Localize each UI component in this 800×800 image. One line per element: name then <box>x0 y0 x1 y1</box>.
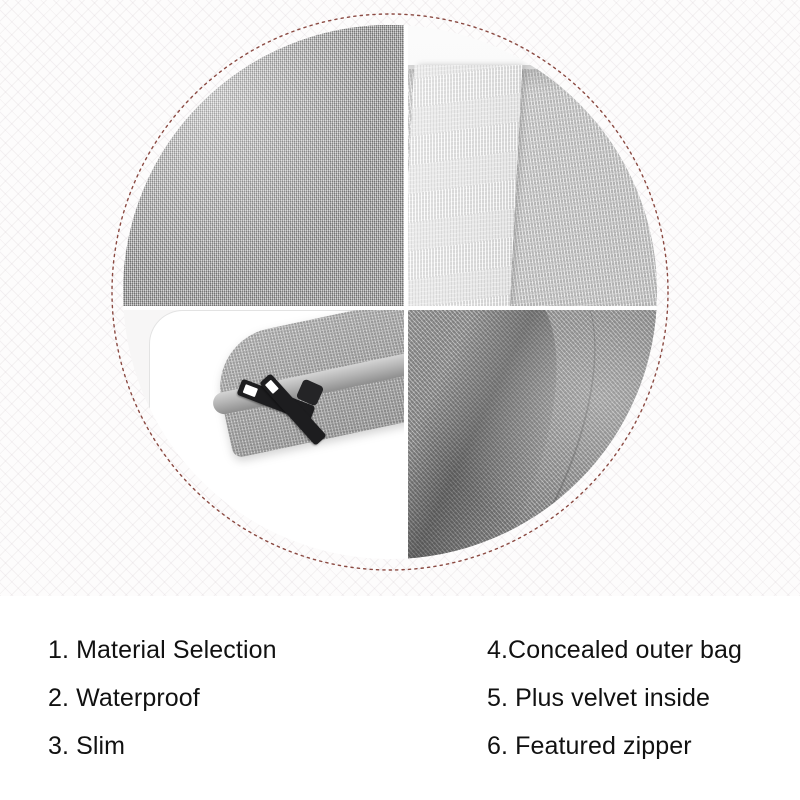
product-feature-circle <box>110 12 670 572</box>
quadrant-velvet-lining <box>408 25 657 306</box>
quadrant-photo-circle <box>123 25 657 559</box>
feature-item-1: 1. Material Selection <box>48 626 277 674</box>
linen-highlight <box>123 25 404 306</box>
feature-item-3: 3. Slim <box>48 722 277 770</box>
zipper-pull-slot <box>265 379 279 393</box>
feature-item-2: 2. Waterproof <box>48 674 277 722</box>
feature-list-left-column: 1. Material Selection 2. Waterproof 3. S… <box>48 626 277 770</box>
feature-list-right-column: 4.Concealed outer bag 5. Plus velvet ins… <box>487 626 742 770</box>
quadrant-concealed-outer-bag <box>408 310 657 559</box>
quadrant-featured-zipper <box>123 310 404 559</box>
quadrant-divider-horizontal <box>123 306 657 310</box>
feature-item-4: 4.Concealed outer bag <box>487 626 742 674</box>
quadrant-material-selection <box>123 25 404 306</box>
quadrant-divider-vertical <box>404 25 408 559</box>
twill-highlight <box>408 310 657 559</box>
zipper-pull-slot <box>243 384 258 397</box>
feature-item-6: 6. Featured zipper <box>487 722 742 770</box>
velvet-folded-flap <box>408 65 522 306</box>
feature-item-5: 5. Plus velvet inside <box>487 674 742 722</box>
